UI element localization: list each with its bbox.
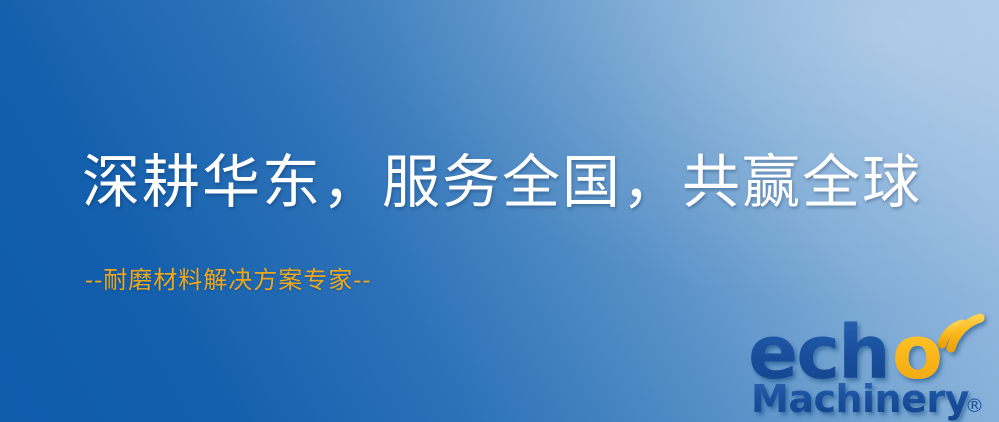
echo-wave-arcs-icon: [942, 318, 980, 348]
logo-wordmark-secondary: Machinery: [751, 377, 970, 421]
promo-banner: 深耕华东，服务全国，共赢全球 --耐磨材料解决方案专家--: [0, 0, 999, 422]
banner-subtitle: --耐磨材料解决方案专家--: [85, 267, 371, 293]
banner-headline: 深耕华东，服务全国，共赢全球: [82, 152, 922, 213]
echo-machinery-logo[interactable]: ech o Machinery ®: [748, 300, 999, 422]
registered-trademark-icon: ®: [965, 395, 984, 417]
